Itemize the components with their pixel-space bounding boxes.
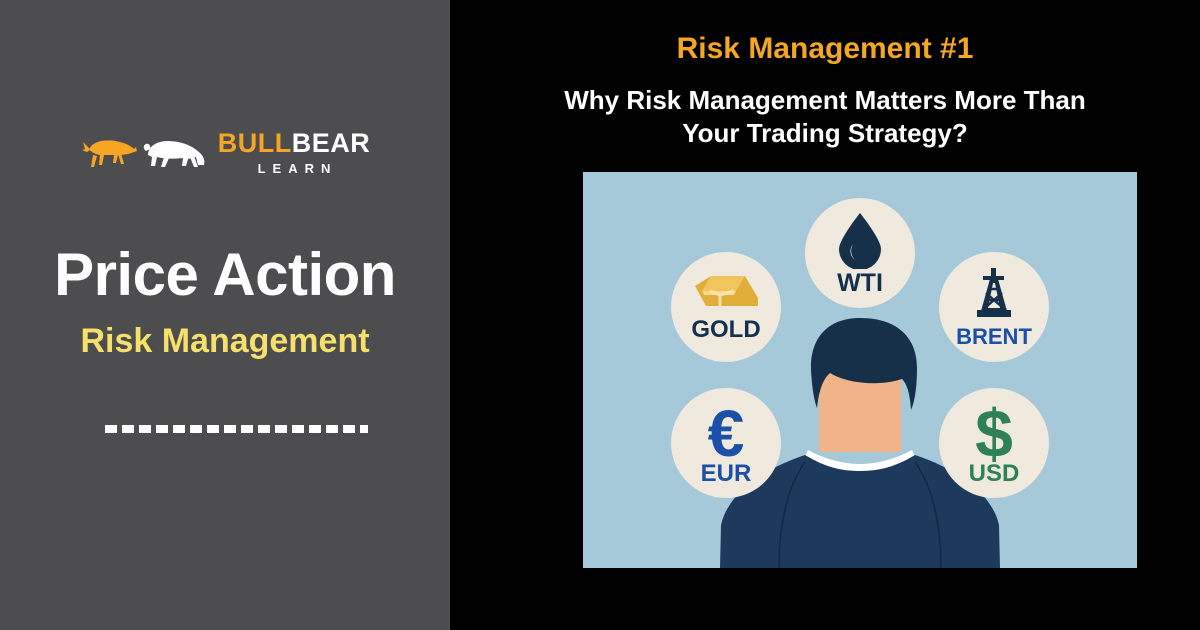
oil-derrick-icon [966, 267, 1022, 323]
question-line-1: Why Risk Management Matters More Than [495, 84, 1155, 117]
illustration-canvas: GOLD WTI [583, 172, 1137, 568]
badge-eur[interactable]: € EUR [671, 388, 781, 498]
logo-bull-text: BULL [218, 128, 292, 158]
bear-icon [142, 133, 208, 173]
page-subtitle: Risk Management [0, 322, 450, 361]
question-line-2: Your Trading Strategy? [495, 117, 1155, 150]
series-kicker: Risk Management #1 [450, 32, 1200, 66]
badge-brent-label: BRENT [956, 326, 1032, 348]
oil-droplet-icon [835, 211, 885, 269]
bull-icon [80, 133, 142, 173]
badge-gold-label: GOLD [691, 318, 760, 342]
badge-usd[interactable]: $ USD [939, 388, 1049, 498]
brand-logo[interactable]: BULLBEAR LEARN [0, 130, 450, 175]
badge-eur-label: EUR [701, 462, 752, 486]
illustration: GOLD WTI [583, 172, 1137, 568]
badge-wti[interactable]: WTI [805, 198, 915, 308]
badge-gold[interactable]: GOLD [671, 252, 781, 362]
euro-symbol-icon: € [708, 400, 745, 466]
badge-brent[interactable]: BRENT [939, 252, 1049, 362]
badge-wti-label: WTI [837, 271, 883, 296]
headline-question: Why Risk Management Matters More Than Yo… [495, 84, 1155, 151]
dashed-divider [105, 425, 368, 433]
gold-bar-icon [694, 272, 758, 314]
right-panel: Risk Management #1 Why Risk Management M… [450, 0, 1200, 630]
logo-learn-text: LEARN [251, 162, 338, 175]
logo-bear-text: BEAR [292, 128, 371, 158]
dollar-sign-icon: $ [975, 400, 1013, 468]
badge-usd-label: USD [969, 462, 1020, 486]
left-panel: BULLBEAR LEARN Price Action Risk Managem… [0, 0, 450, 630]
logo-animals [80, 133, 208, 173]
page-title: Price Action [0, 240, 450, 309]
promo-banner: BULLBEAR LEARN Price Action Risk Managem… [0, 0, 1200, 630]
logo-wordmark: BULLBEAR LEARN [218, 130, 371, 175]
